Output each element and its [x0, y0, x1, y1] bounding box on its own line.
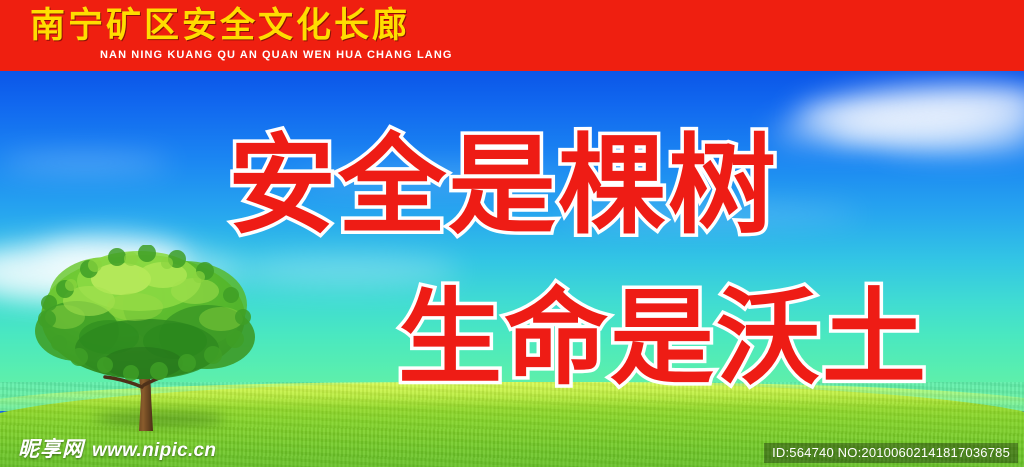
- header-banner: 南宁矿区安全文化长廊 NAN NING KUANG QU AN QUAN WEN…: [0, 0, 1024, 71]
- watermark-url: www.nipic.cn: [92, 440, 216, 462]
- cloud-shape: [0, 155, 170, 171]
- image-id-label: ID:564740 NO:20100602141817036785: [764, 443, 1018, 463]
- page-title: 南宁矿区安全文化长廊: [30, 5, 410, 47]
- cloud-shape: [770, 120, 900, 144]
- headline-line-1: 安全是棵树: [228, 131, 778, 243]
- headline-line-2: 生命是沃土: [398, 284, 928, 392]
- poster-canvas: 安全是棵树 生命是沃土 南宁矿区安全文化长廊 NAN NING KUANG QU…: [0, 0, 1024, 467]
- tree-icon: [35, 245, 270, 435]
- page-title-pinyin: NAN NING KUANG QU AN QUAN WEN HUA CHANG …: [100, 49, 453, 62]
- watermark: 昵享网 www.nipic.cn: [18, 437, 216, 462]
- watermark-logo: 昵享网: [18, 437, 84, 461]
